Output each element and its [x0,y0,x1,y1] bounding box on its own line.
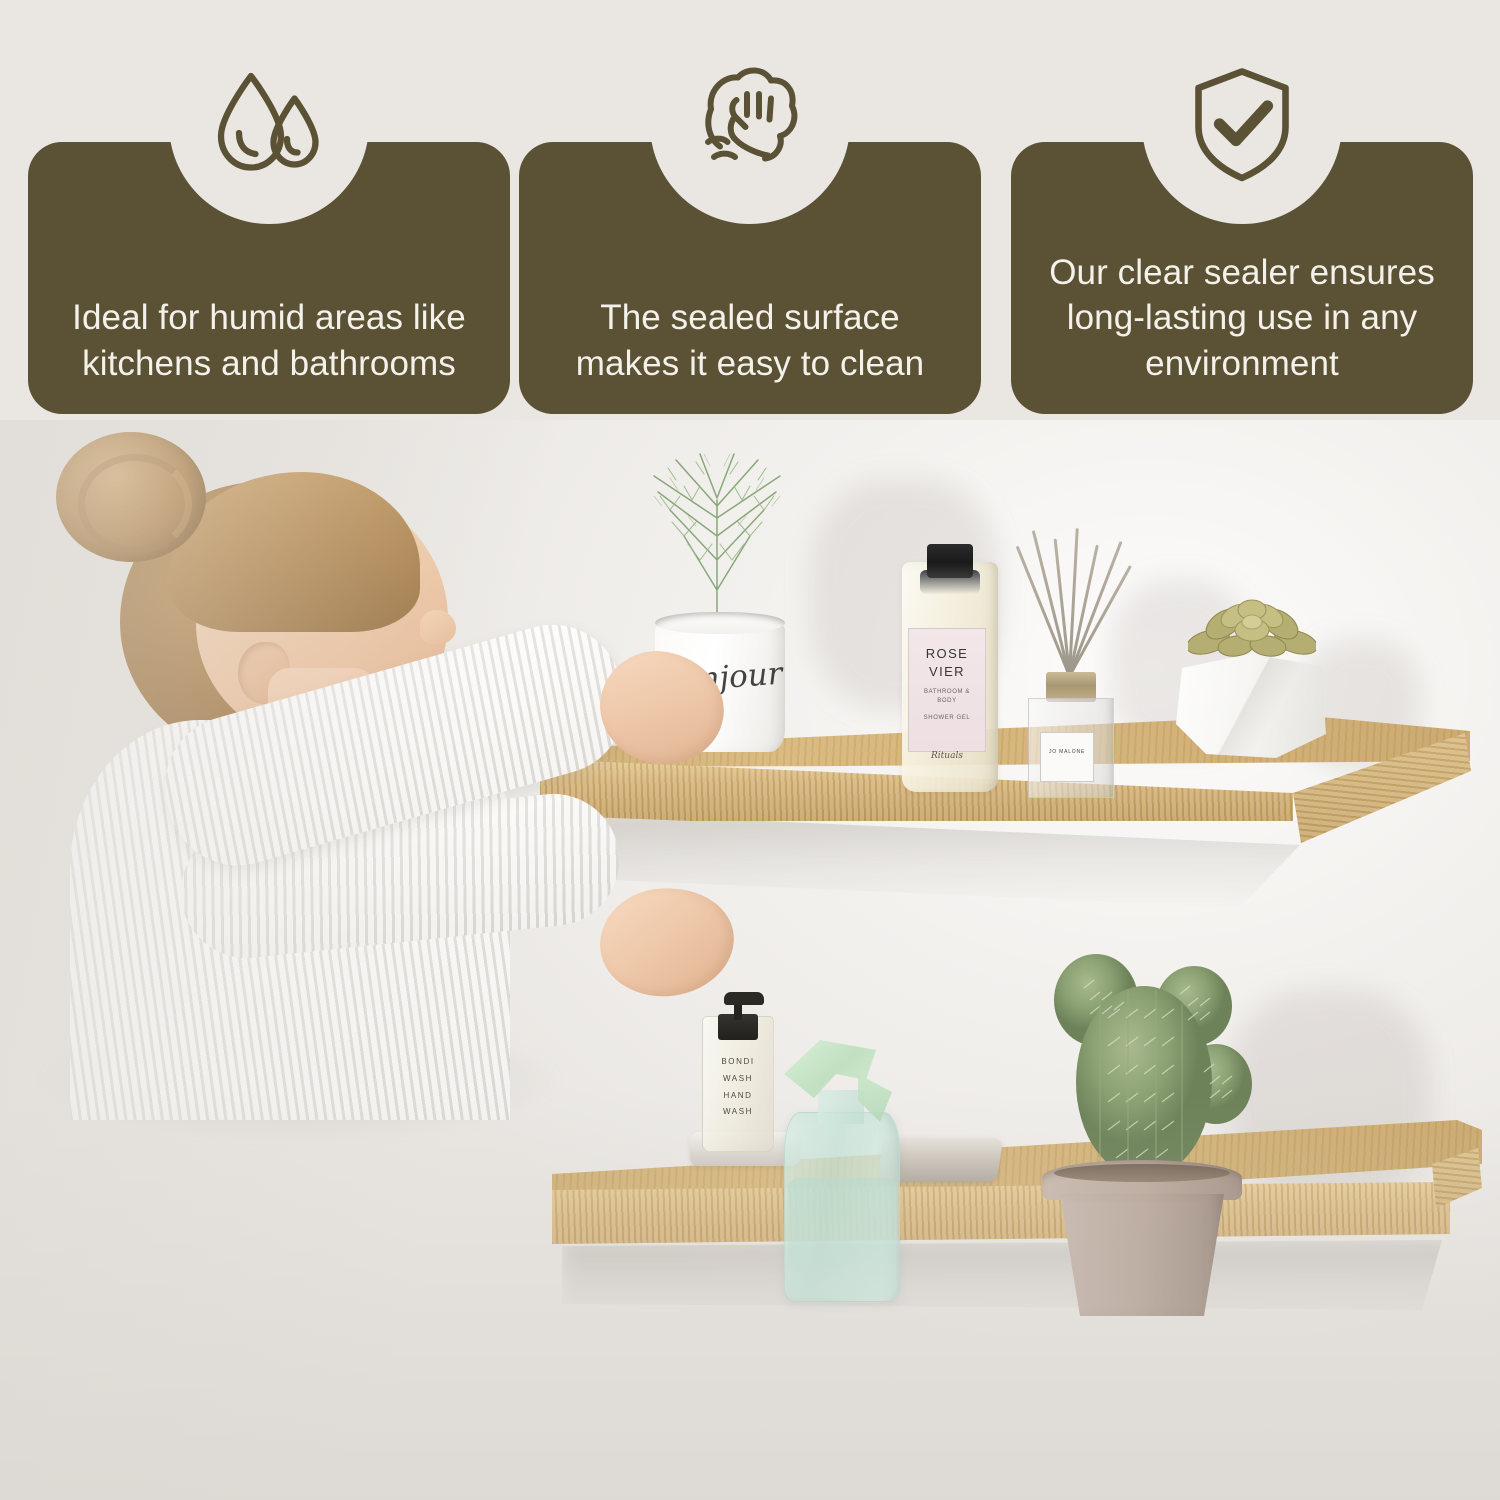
pot-gravel [1054,1164,1230,1182]
lifestyle-photo-scene: bonjour ROSE VIER BATHROOM & BODY SHOWER… [0,420,1500,1500]
soap-brand-sub: HAND WASH [708,1088,768,1122]
oil-label-line3: BATHROOM & BODY [915,688,979,706]
fern-plant [592,440,842,630]
soap-brand-label: BONDI WASH HAND WASH [708,1054,768,1121]
oil-label-script: Rituals [915,751,979,761]
cactus-plant [1030,948,1260,1188]
hair-bun-swirl [78,454,192,554]
water-droplets-icon [169,24,369,224]
reed-diffuser-brand-label: JO MALONE [1040,732,1094,782]
spray-bottle-water [788,1178,896,1298]
diffuser-oil-bottle: ROSE VIER BATHROOM & BODY SHOWER GEL Rit… [902,540,998,792]
feature-card-humidity-text: Ideal for humid areas like kitchens and … [28,295,510,414]
shield-check-icon [1142,24,1342,224]
reed-diffuser: JO MALONE [1010,538,1130,798]
oil-label-line1: ROSE [915,645,979,663]
lower-shelf-wall-shadow [562,1240,1462,1330]
geometric-white-pot [1176,638,1326,758]
terracotta-pot [1042,1160,1242,1320]
oil-label-line4: SHOWER GEL [915,714,979,723]
product-feature-image: Ideal for humid areas like kitchens and … [0,0,1500,1500]
pot-body [1060,1194,1224,1316]
child-nose [420,610,456,644]
oil-label-line2: VIER [915,663,979,681]
soap-pump-head [724,992,764,1005]
lower-shelf-end-face [1432,1148,1500,1258]
oil-bottle-label: ROSE VIER BATHROOM & BODY SHOWER GEL Rit… [908,628,986,752]
oil-bottle-cap [927,544,973,578]
feature-card-row: Ideal for humid areas like kitchens and … [0,0,1500,420]
soap-brand-name: BONDI WASH [708,1054,768,1088]
feature-card-durability-text: Our clear sealer ensures long-lasting us… [1011,250,1473,415]
reed-stick [1068,565,1132,677]
glass-spray-bottle [770,1002,910,1302]
hand-wiping-cloth-icon [650,24,850,224]
spray-bottle-neck [818,1090,864,1124]
geo-pot-facet [1176,654,1326,758]
feature-card-easy-clean-text: The sealed surface makes it easy to clea… [519,295,981,414]
planter-rim [655,612,785,634]
hand-wash-dispenser: BONDI WASH HAND WASH [702,992,774,1152]
